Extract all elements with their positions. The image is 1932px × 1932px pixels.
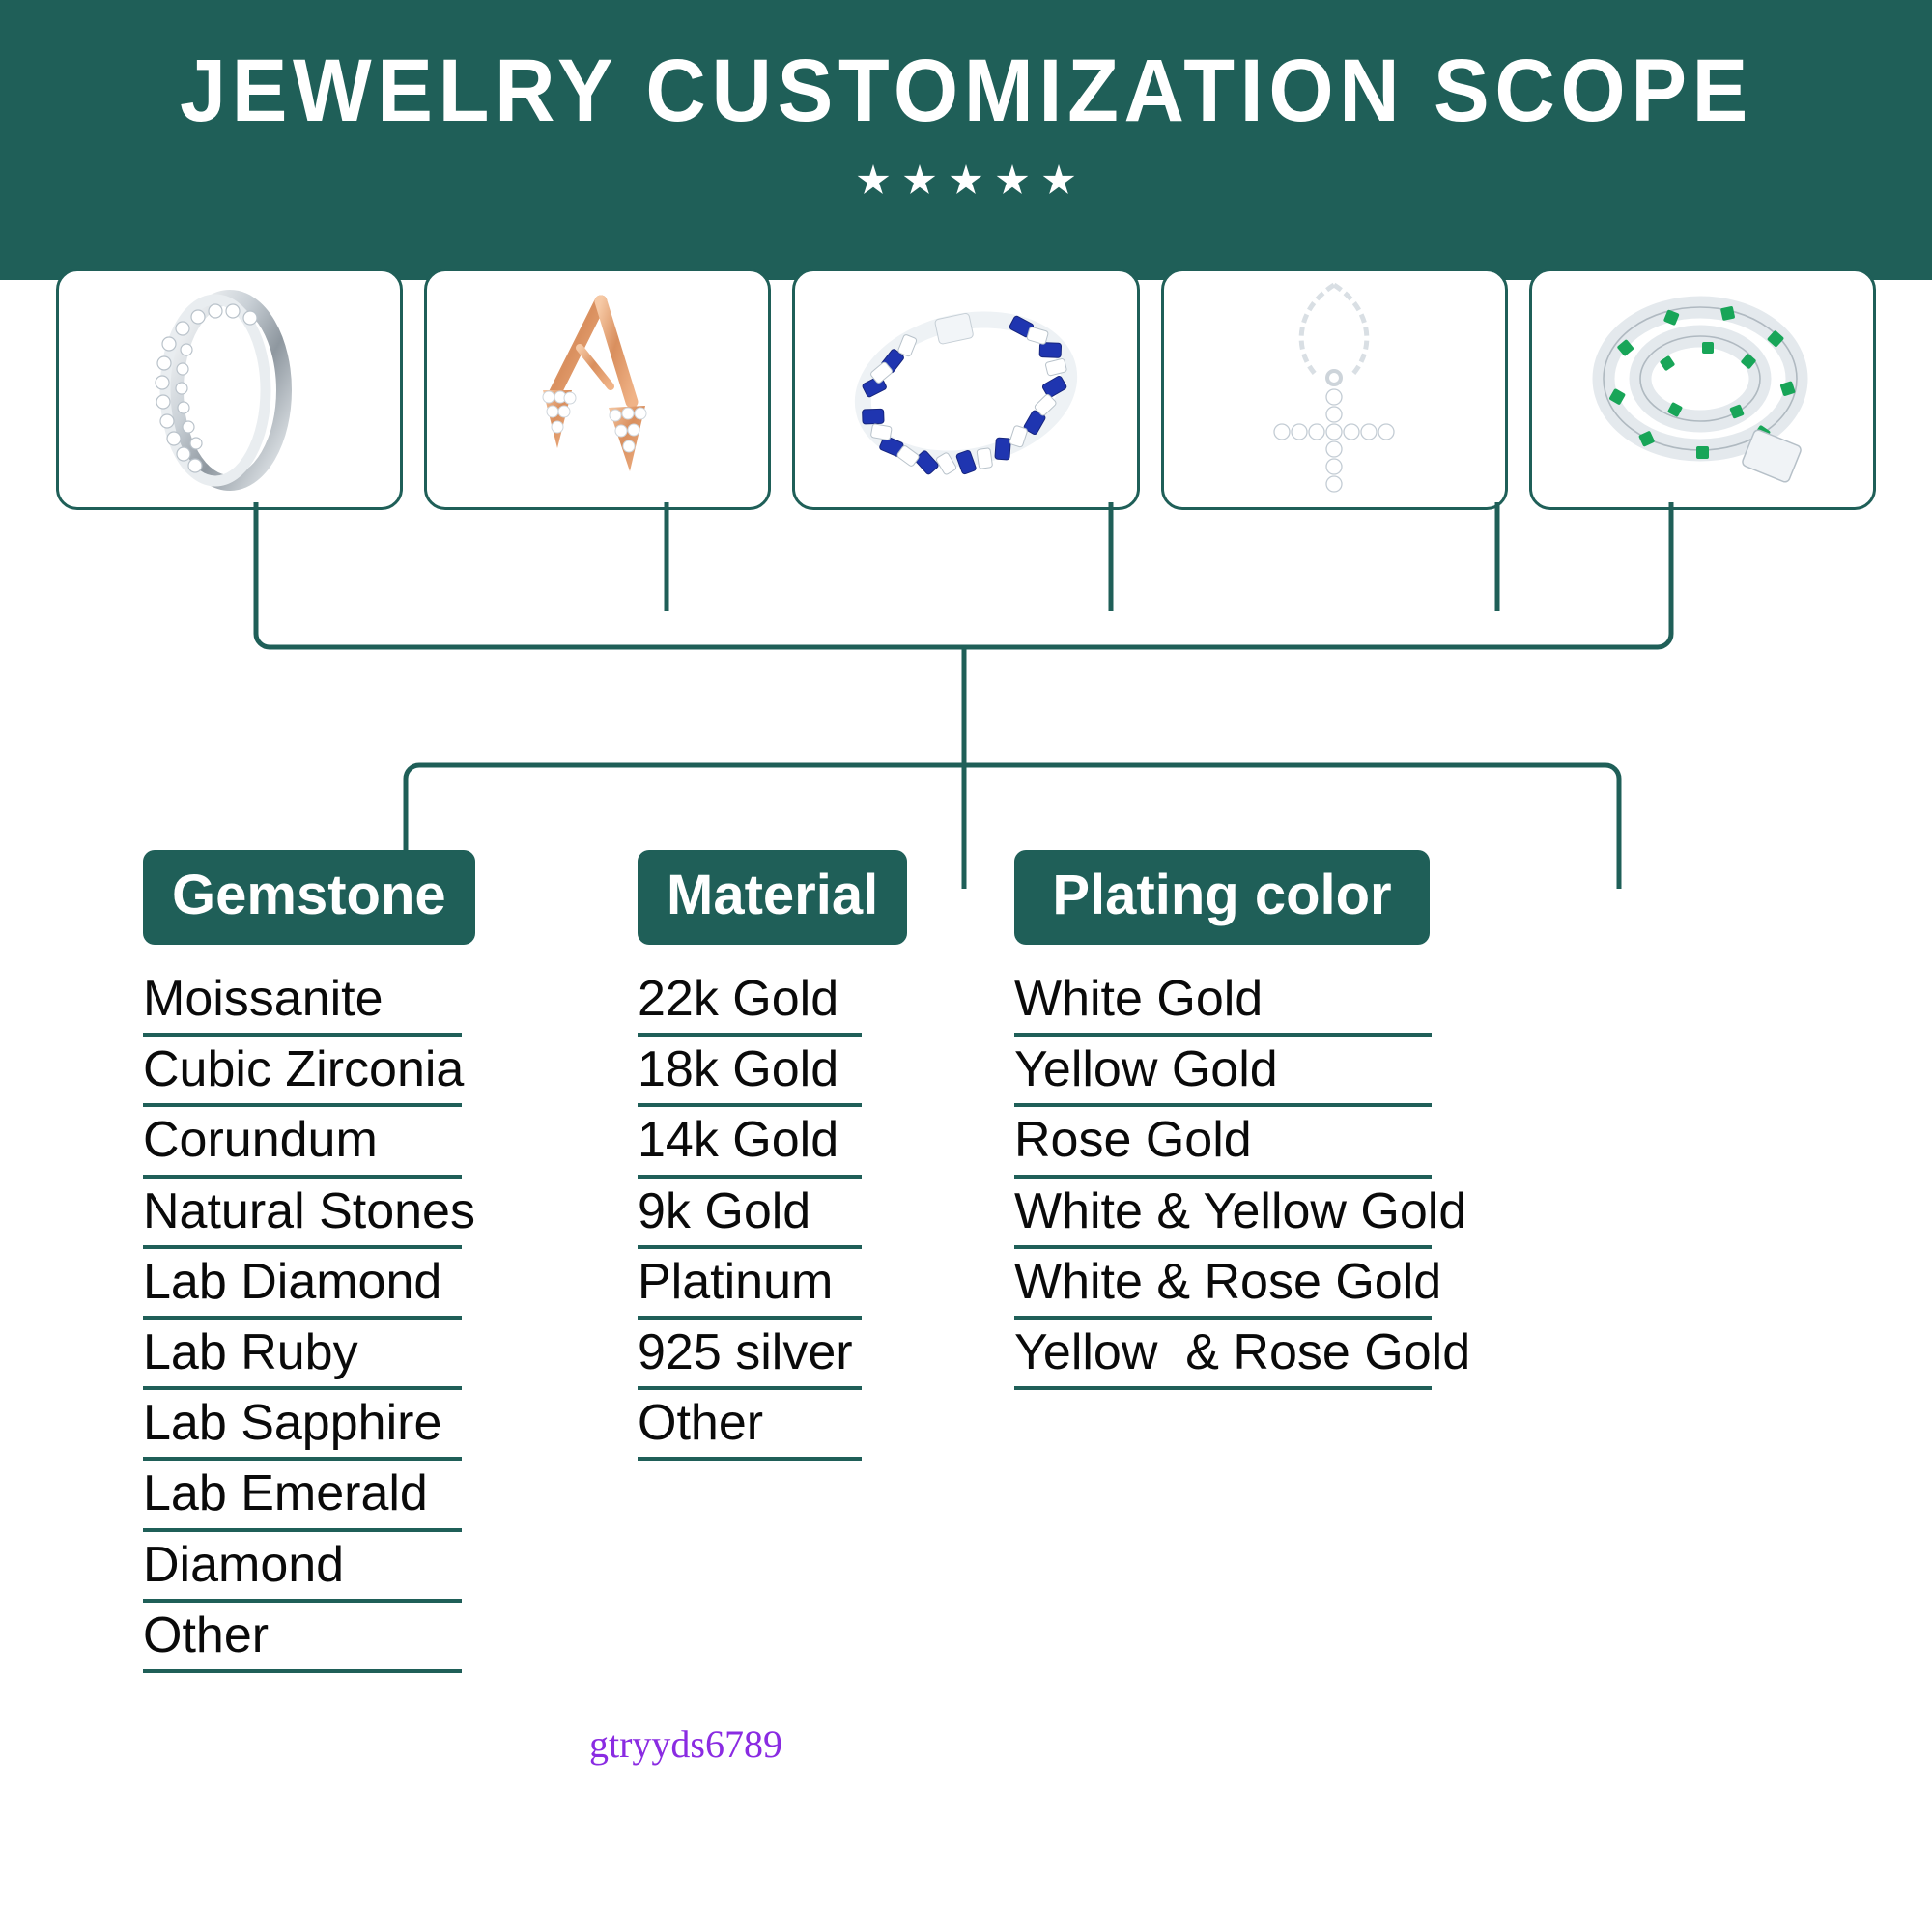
list-item[interactable]: Lab Diamond xyxy=(143,1249,462,1320)
category-columns: Gemstone Moissanite Cubic Zirconia Corun… xyxy=(0,850,1932,1673)
list-item[interactable]: Lab Sapphire xyxy=(143,1390,462,1461)
list-item[interactable]: Other xyxy=(638,1390,862,1461)
earrings-image xyxy=(427,271,768,507)
list-item[interactable]: Moissanite xyxy=(143,966,462,1037)
star-icon xyxy=(950,164,982,197)
list-item[interactable]: Corundum xyxy=(143,1107,462,1178)
list-item[interactable]: White & Yellow Gold xyxy=(1014,1179,1432,1249)
necklace-image xyxy=(1164,271,1505,507)
list-item[interactable]: Yellow Gold xyxy=(1014,1037,1432,1107)
list-item[interactable]: Diamond xyxy=(143,1532,462,1603)
list-item[interactable]: 925 silver xyxy=(638,1320,862,1390)
option-list-material: 22k Gold 18k Gold 14k Gold 9k Gold Plati… xyxy=(638,966,1014,1461)
cuban-chain-image xyxy=(1532,271,1873,507)
list-item[interactable]: Lab Emerald xyxy=(143,1461,462,1531)
star-icon xyxy=(857,164,890,197)
list-item[interactable]: Cubic Zirconia xyxy=(143,1037,462,1107)
ring-image xyxy=(59,271,400,507)
star-rating xyxy=(857,164,1075,197)
category-material: Material 22k Gold 18k Gold 14k Gold 9k G… xyxy=(638,850,1014,1673)
category-plating-color: Plating color White Gold Yellow Gold Ros… xyxy=(1014,850,1884,1673)
category-header-material[interactable]: Material xyxy=(638,850,907,945)
list-item[interactable]: 14k Gold xyxy=(638,1107,862,1178)
option-list-gemstone: Moissanite Cubic Zirconia Corundum Natur… xyxy=(143,966,638,1673)
list-item[interactable]: 22k Gold xyxy=(638,966,862,1037)
product-card-earrings[interactable] xyxy=(424,269,771,510)
category-gemstone: Gemstone Moissanite Cubic Zirconia Corun… xyxy=(0,850,638,1673)
list-item[interactable]: Lab Ruby xyxy=(143,1320,462,1390)
product-card-ring[interactable] xyxy=(56,269,403,510)
list-item[interactable]: 9k Gold xyxy=(638,1179,862,1249)
list-item[interactable]: Yellow & Rose Gold xyxy=(1014,1320,1432,1390)
list-item[interactable]: Natural Stones xyxy=(143,1179,462,1249)
product-card-bracelet[interactable] xyxy=(792,269,1139,510)
category-header-gemstone[interactable]: Gemstone xyxy=(143,850,475,945)
option-list-plating-color: White Gold Yellow Gold Rose Gold White &… xyxy=(1014,966,1884,1390)
product-card-cuban-chain[interactable] xyxy=(1529,269,1876,510)
bracelet-image xyxy=(795,271,1136,507)
product-gallery xyxy=(56,269,1876,510)
watermark: gtryyds6789 xyxy=(589,1721,782,1767)
connector-tree xyxy=(0,502,1932,889)
page-title: JEWELRY CUSTOMIZATION SCOPE xyxy=(180,46,1753,135)
list-item[interactable]: White Gold xyxy=(1014,966,1432,1037)
list-item[interactable]: Platinum xyxy=(638,1249,862,1320)
list-item[interactable]: 18k Gold xyxy=(638,1037,862,1107)
star-icon xyxy=(1042,164,1075,197)
list-item[interactable]: White & Rose Gold xyxy=(1014,1249,1432,1320)
list-item[interactable]: Rose Gold xyxy=(1014,1107,1432,1178)
page-header: JEWELRY CUSTOMIZATION SCOPE xyxy=(0,0,1932,280)
list-item[interactable]: Other xyxy=(143,1603,462,1673)
category-header-plating-color[interactable]: Plating color xyxy=(1014,850,1430,945)
product-card-necklace[interactable] xyxy=(1161,269,1508,510)
star-icon xyxy=(996,164,1029,197)
star-icon xyxy=(903,164,936,197)
